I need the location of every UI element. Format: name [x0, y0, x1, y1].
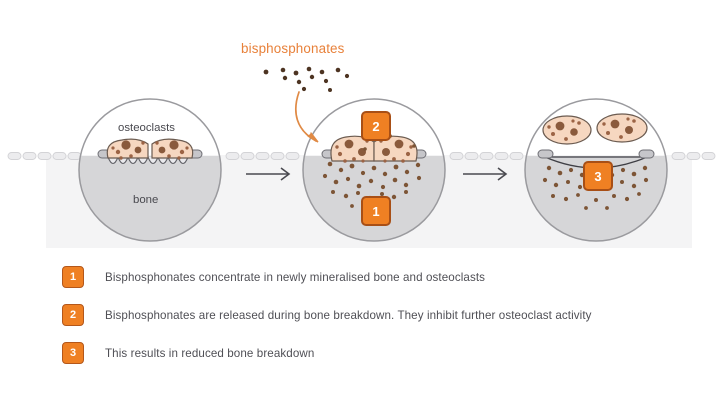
label-osteoclasts: osteoclasts — [118, 122, 175, 134]
panel-1-osteoclast-left — [107, 139, 148, 160]
legend-item: 1 Bisphosphonates concentrate in newly m… — [62, 258, 702, 296]
diagram-title: bisphosphonates — [241, 41, 345, 56]
legend-text-1: Bisphosphonates concentrate in newly min… — [105, 271, 485, 284]
panel-1-osteoclast-right — [152, 139, 193, 160]
legend-item: 2 Bisphosphonates are released during bo… — [62, 296, 702, 334]
legend-badge-2: 2 — [62, 304, 84, 326]
bisphosphonate-dots — [264, 67, 350, 92]
panel-badge-2: 2 — [361, 111, 391, 141]
legend-text-3: This results in reduced bone breakdown — [105, 347, 314, 360]
bisphosphonate-arrow — [296, 92, 318, 142]
legend-badge-3: 3 — [62, 342, 84, 364]
panel-3-osteoclast-left — [543, 116, 591, 144]
legend-badge-1: 1 — [62, 266, 84, 288]
panel-badge-3: 3 — [583, 161, 613, 191]
legend: 1 Bisphosphonates concentrate in newly m… — [62, 258, 702, 372]
legend-item: 3 This results in reduced bone breakdown — [62, 334, 702, 372]
panel-3-osteoclast-right — [597, 114, 647, 142]
panel-badge-1: 1 — [361, 196, 391, 226]
label-bone: bone — [133, 194, 158, 206]
legend-text-2: Bisphosphonates are released during bone… — [105, 309, 592, 322]
diagram-stage: bisphosphonates osteoclasts bone 2 1 3 1… — [0, 0, 720, 416]
